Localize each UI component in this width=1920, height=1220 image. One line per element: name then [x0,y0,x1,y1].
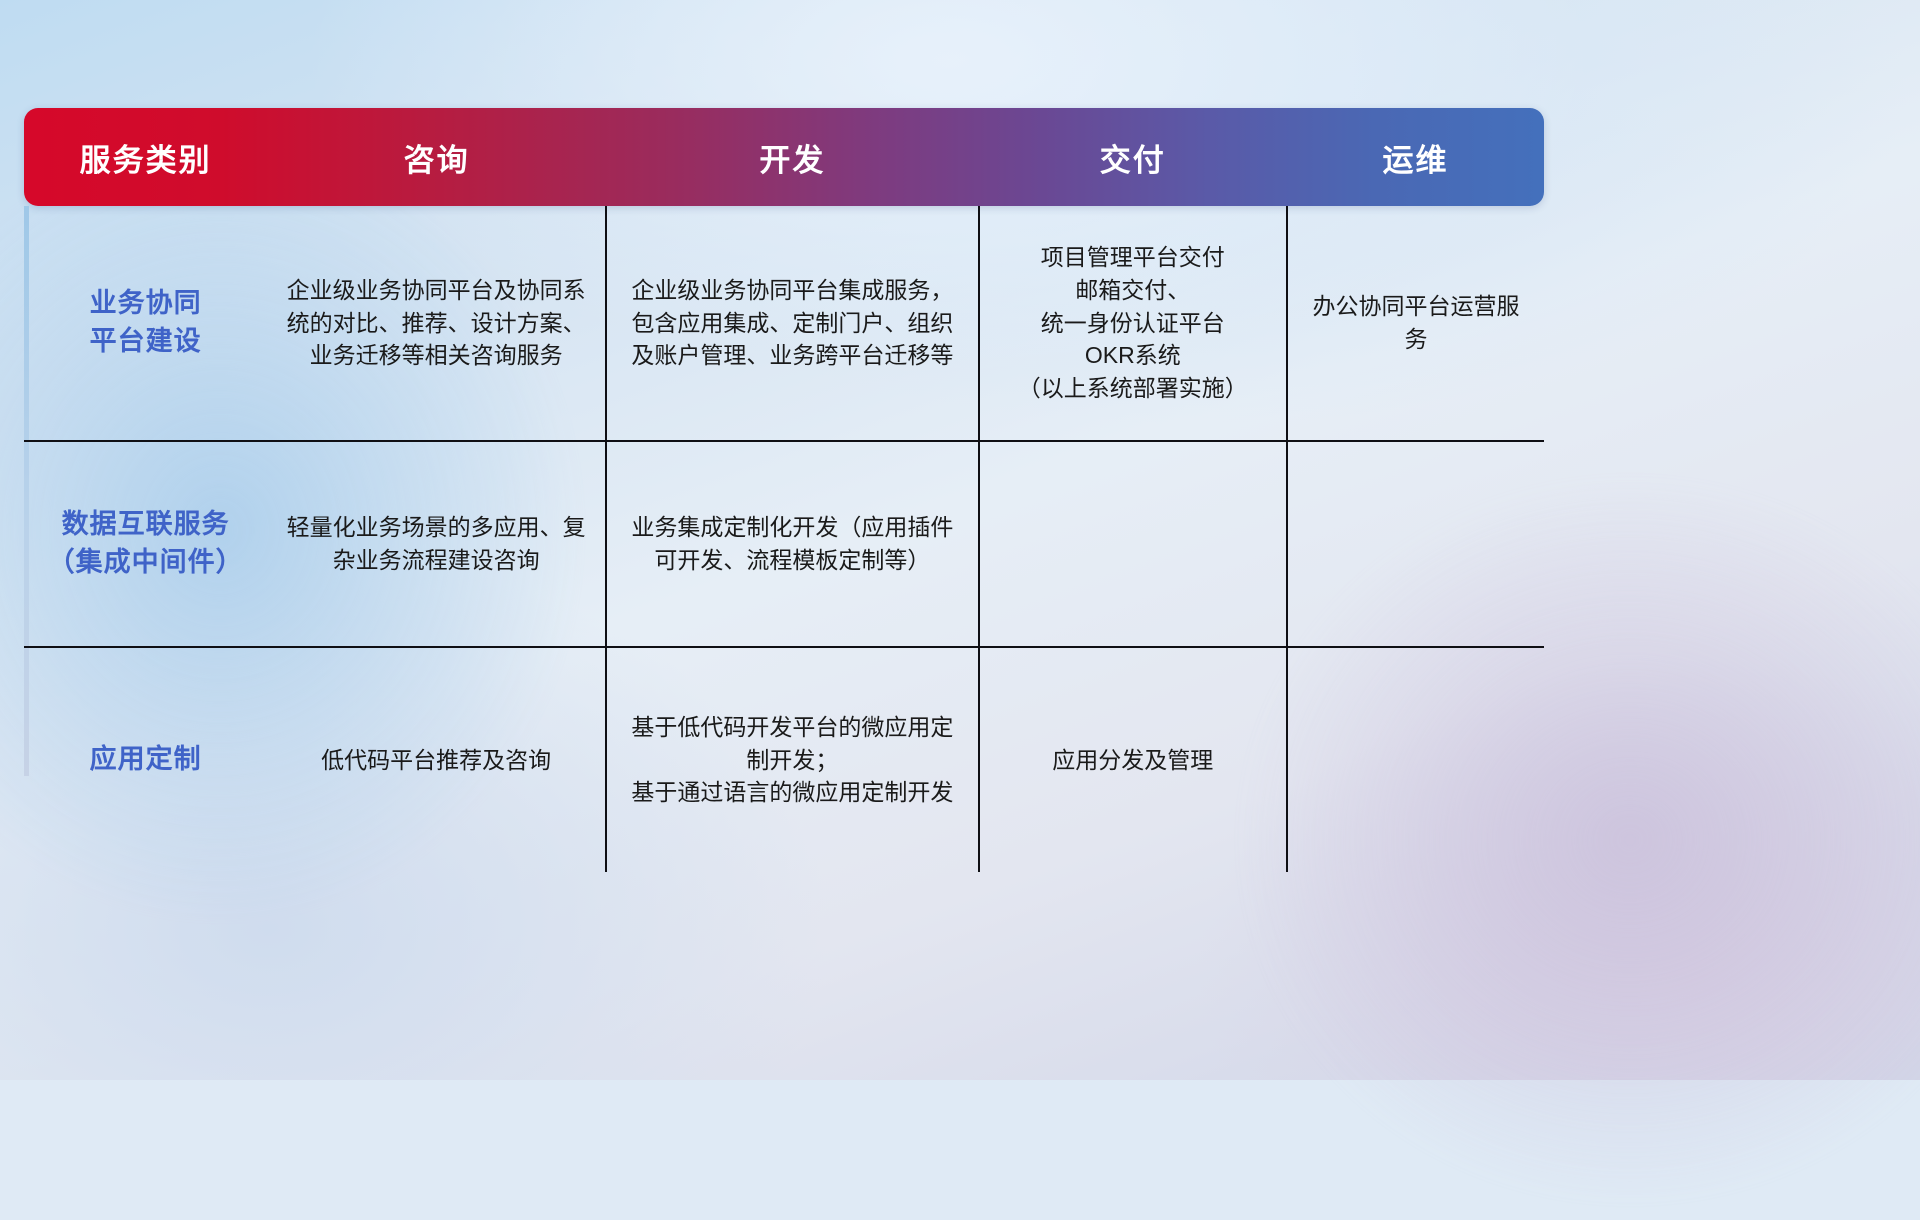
cell-development: 业务集成定制化开发（应用插件 可开发、流程模板定制等） [606,441,978,647]
row-category-label: 业务协同 平台建设 [24,206,267,441]
row-category-label: 数据互联服务 （集成中间件） [24,441,267,647]
cell-delivery: 项目管理平台交付 邮箱交付、 统一身份认证平台 OKR系统 （以上系统部署实施） [979,206,1288,441]
cell-development: 企业级业务协同平台集成服务， 包含应用集成、定制门户、组织 及账户管理、业务跨平… [606,206,978,441]
column-header-development: 开发 [606,108,978,206]
cell-consulting: 企业级业务协同平台及协同系 统的对比、推荐、设计方案、 业务迁移等相关咨询服务 [267,206,606,441]
table-row: 应用定制 低代码平台推荐及咨询 基于低代码开发平台的微应用定 制开发； 基于通过… [24,647,1544,872]
service-matrix-table-wrapper: 服务类别 咨询 开发 交付 运维 业务协同 平台建设 企业级业务协同平台及协同系… [24,108,1544,872]
service-matrix-table: 服务类别 咨询 开发 交付 运维 业务协同 平台建设 企业级业务协同平台及协同系… [24,108,1544,872]
cell-development: 基于低代码开发平台的微应用定 制开发； 基于通过语言的微应用定制开发 [606,647,978,872]
cell-consulting: 轻量化业务场景的多应用、复 杂业务流程建设咨询 [267,441,606,647]
cell-operations [1287,441,1544,647]
table-header-row: 服务类别 咨询 开发 交付 运维 [24,108,1544,206]
column-header-consulting: 咨询 [267,108,606,206]
cell-delivery [979,441,1288,647]
cell-consulting: 低代码平台推荐及咨询 [267,647,606,872]
column-header-delivery: 交付 [979,108,1288,206]
cell-delivery: 应用分发及管理 [979,647,1288,872]
column-header-operations: 运维 [1287,108,1544,206]
column-header-category: 服务类别 [24,108,267,206]
cell-operations [1287,647,1544,872]
cell-operations: 办公协同平台运营服务 [1287,206,1544,441]
row-category-label: 应用定制 [24,647,267,872]
table-row: 数据互联服务 （集成中间件） 轻量化业务场景的多应用、复 杂业务流程建设咨询 业… [24,441,1544,647]
table-row: 业务协同 平台建设 企业级业务协同平台及协同系 统的对比、推荐、设计方案、 业务… [24,206,1544,441]
